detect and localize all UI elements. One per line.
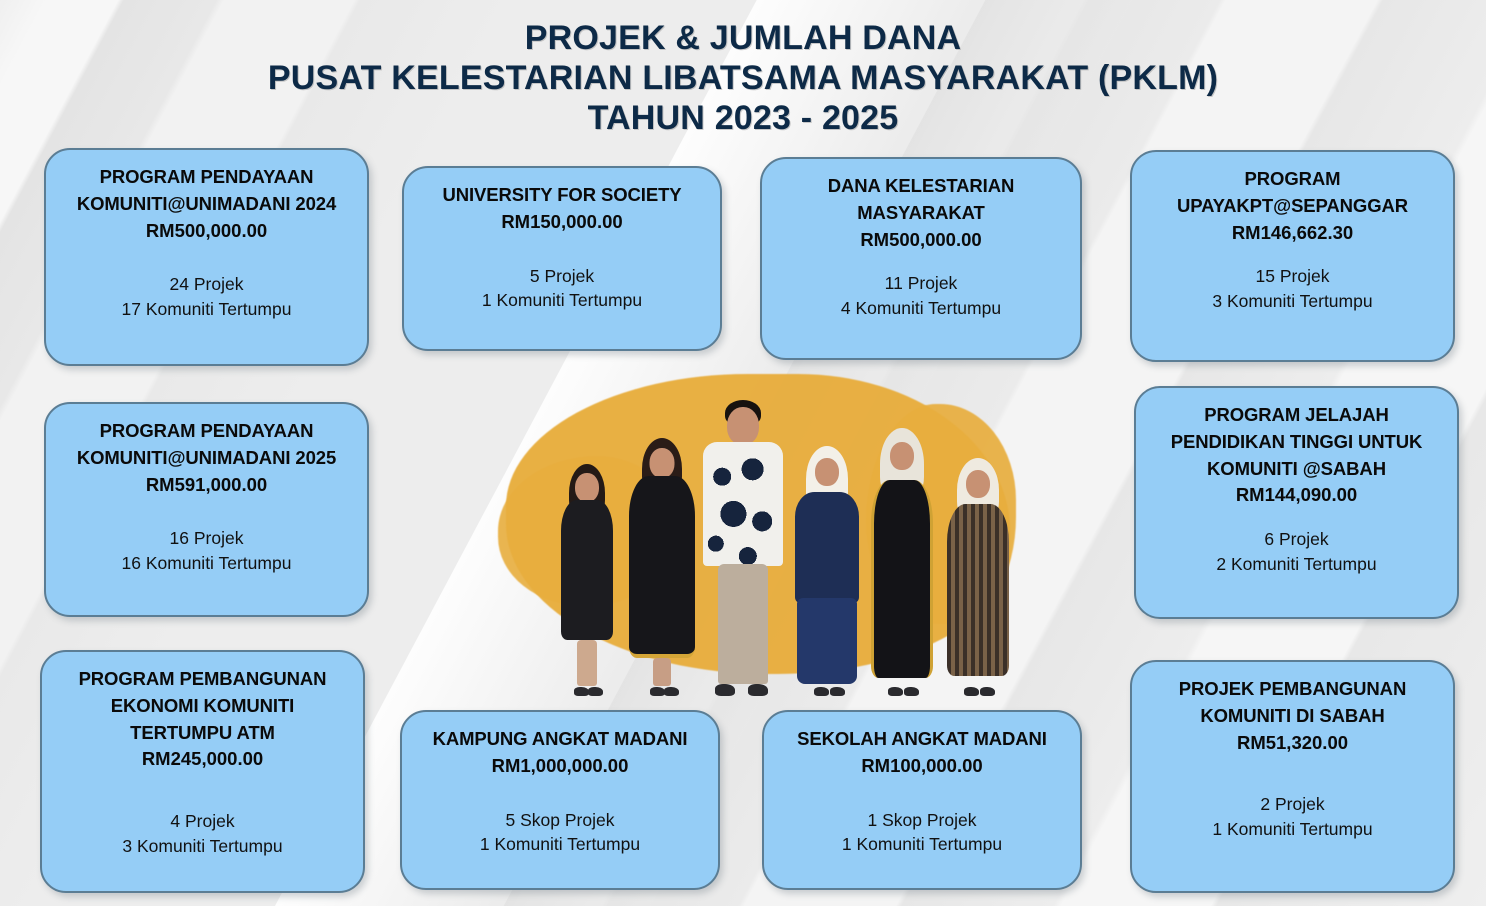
person-2-head xyxy=(650,448,675,478)
card-0-heading-line-0: PROGRAM PENDAYAAN xyxy=(100,164,314,191)
program-card-9[interactable]: PROJEK PEMBANGUNAN KOMUNITI DI SABAH RM5… xyxy=(1130,660,1455,893)
person-3-body xyxy=(703,442,783,566)
person-3-shoe-right xyxy=(748,684,768,696)
card-5-heading-line-0: PROGRAM JELAJAH xyxy=(1204,402,1389,429)
person-2 xyxy=(626,438,698,696)
person-5-shoe-right xyxy=(904,687,919,696)
title-line-1: PROJEK & JUMLAH DANA xyxy=(0,18,1486,58)
card-9-stat-0: 2 Projek xyxy=(1260,792,1324,817)
person-6-shoe-left xyxy=(964,687,979,696)
card-5-stat-0: 6 Projek xyxy=(1264,527,1328,552)
card-6-stat-1: 3 Komuniti Tertumpu xyxy=(122,834,282,859)
card-7-stat-1: 1 Komuniti Tertumpu xyxy=(480,832,640,857)
card-5-amount: RM144,090.00 xyxy=(1236,482,1357,509)
person-1 xyxy=(556,464,618,696)
card-0-amount: RM500,000.00 xyxy=(146,218,267,245)
person-2-shoe-left xyxy=(650,687,665,696)
card-9-heading-line-1: KOMUNITI DI SABAH xyxy=(1200,703,1384,730)
person-4 xyxy=(790,446,864,696)
program-card-1[interactable]: UNIVERSITY FOR SOCIETY RM150,000.00 5 Pr… xyxy=(402,166,722,351)
card-3-heading-line-1: UPAYAKPT@SEPANGGAR xyxy=(1177,193,1408,220)
program-card-0[interactable]: PROGRAM PENDAYAAN KOMUNITI@UNIMADANI 202… xyxy=(44,148,369,366)
card-6-amount: RM245,000.00 xyxy=(142,746,263,773)
program-card-8[interactable]: SEKOLAH ANGKAT MADANI RM100,000.00 1 Sko… xyxy=(762,710,1082,890)
card-2-heading-line-1: MASYARAKAT xyxy=(857,200,984,227)
card-6-heading-line-0: PROGRAM PEMBANGUNAN xyxy=(79,666,327,693)
card-5-stat-1: 2 Komuniti Tertumpu xyxy=(1216,552,1376,577)
program-card-2[interactable]: DANA KELESTARIAN MASYARAKAT RM500,000.00… xyxy=(760,157,1082,360)
card-1-heading-line-0: UNIVERSITY FOR SOCIETY xyxy=(442,182,681,209)
card-8-amount: RM100,000.00 xyxy=(861,753,982,780)
person-5 xyxy=(866,428,938,696)
card-7-stat-0: 5 Skop Projek xyxy=(506,808,615,833)
card-2-stat-1: 4 Komuniti Tertumpu xyxy=(841,296,1001,321)
person-2-legs xyxy=(653,658,671,686)
person-3-head xyxy=(727,407,759,445)
card-2-amount: RM500,000.00 xyxy=(860,227,981,254)
person-3-legs xyxy=(718,564,768,684)
person-3 xyxy=(700,400,786,696)
person-5-head xyxy=(890,442,914,470)
infographic-poster: PROJEK & JUMLAH DANA PUSAT KELESTARIAN L… xyxy=(0,0,1486,906)
card-9-amount: RM51,320.00 xyxy=(1237,730,1348,757)
program-card-4[interactable]: PROGRAM PENDAYAAN KOMUNITI@UNIMADANI 202… xyxy=(44,402,369,617)
card-6-heading-line-2: TERTUMPU ATM xyxy=(130,720,275,747)
card-7-amount: RM1,000,000.00 xyxy=(492,753,629,780)
card-9-stat-1: 1 Komuniti Tertumpu xyxy=(1212,817,1372,842)
program-card-3[interactable]: PROGRAM UPAYAKPT@SEPANGGAR RM146,662.30 … xyxy=(1130,150,1455,362)
person-4-body xyxy=(795,492,859,604)
card-8-stat-0: 1 Skop Projek xyxy=(868,808,977,833)
program-card-6[interactable]: PROGRAM PEMBANGUNAN EKONOMI KOMUNITI TER… xyxy=(40,650,365,893)
card-7-heading-line-0: KAMPUNG ANGKAT MADANI xyxy=(433,726,688,753)
card-6-stat-0: 4 Projek xyxy=(170,809,234,834)
card-4-heading-line-0: PROGRAM PENDAYAAN xyxy=(100,418,314,445)
person-4-shoe-left xyxy=(814,687,829,696)
card-1-amount: RM150,000.00 xyxy=(501,209,622,236)
card-0-heading-line-1: KOMUNITI@UNIMADANI 2024 xyxy=(77,191,336,218)
person-2-body xyxy=(629,476,695,658)
title-line-2: PUSAT KELESTARIAN LIBATSAMA MASYARAKAT (… xyxy=(0,58,1486,98)
card-2-heading-line-0: DANA KELESTARIAN xyxy=(828,173,1014,200)
program-card-5[interactable]: PROGRAM JELAJAH PENDIDIKAN TINGGI UNTUK … xyxy=(1134,386,1459,619)
program-card-7[interactable]: KAMPUNG ANGKAT MADANI RM1,000,000.00 5 S… xyxy=(400,710,720,890)
card-4-stat-0: 16 Projek xyxy=(170,526,244,551)
card-3-stat-1: 3 Komuniti Tertumpu xyxy=(1212,289,1372,314)
person-1-head xyxy=(575,473,599,502)
person-5-shoe-left xyxy=(888,687,903,696)
card-8-stat-1: 1 Komuniti Tertumpu xyxy=(842,832,1002,857)
card-3-stat-0: 15 Projek xyxy=(1256,264,1330,289)
person-1-legs xyxy=(577,640,597,686)
person-1-shoe-left xyxy=(574,687,589,696)
card-0-stat-1: 17 Komuniti Tertumpu xyxy=(122,297,292,322)
card-2-stat-0: 11 Projek xyxy=(885,271,958,296)
person-1-body xyxy=(561,500,613,640)
person-6 xyxy=(942,458,1014,696)
card-6-heading-line-1: EKONOMI KOMUNITI xyxy=(111,693,294,720)
person-1-shoe-right xyxy=(588,687,603,696)
card-0-stat-0: 24 Projek xyxy=(170,272,244,297)
card-5-heading-line-1: PENDIDIKAN TINGGI UNTUK xyxy=(1171,429,1423,456)
card-3-amount: RM146,662.30 xyxy=(1232,220,1353,247)
card-5-heading-line-2: KOMUNITI @SABAH xyxy=(1207,456,1386,483)
person-6-head xyxy=(966,470,990,498)
card-1-stat-1: 1 Komuniti Tertumpu xyxy=(482,288,642,313)
card-1-stat-0: 5 Projek xyxy=(530,264,594,289)
person-3-shoe-left xyxy=(715,684,735,696)
poster-title: PROJEK & JUMLAH DANA PUSAT KELESTARIAN L… xyxy=(0,18,1486,138)
title-line-3: TAHUN 2023 - 2025 xyxy=(0,98,1486,138)
person-4-skirt xyxy=(797,598,857,684)
people-group xyxy=(498,368,1026,704)
person-2-shoe-right xyxy=(664,687,679,696)
card-9-heading-line-0: PROJEK PEMBANGUNAN xyxy=(1179,676,1406,703)
card-4-heading-line-1: KOMUNITI@UNIMADANI 2025 xyxy=(77,445,336,472)
person-4-shoe-right xyxy=(830,687,845,696)
group-photo xyxy=(498,368,1026,704)
card-8-heading-line-0: SEKOLAH ANGKAT MADANI xyxy=(797,726,1047,753)
card-3-heading-line-0: PROGRAM xyxy=(1245,166,1341,193)
person-6-body xyxy=(947,504,1009,676)
person-4-head xyxy=(815,458,839,486)
card-4-amount: RM591,000.00 xyxy=(146,472,267,499)
person-5-body xyxy=(871,480,933,678)
person-6-shoe-right xyxy=(980,687,995,696)
card-4-stat-1: 16 Komuniti Tertumpu xyxy=(122,551,292,576)
